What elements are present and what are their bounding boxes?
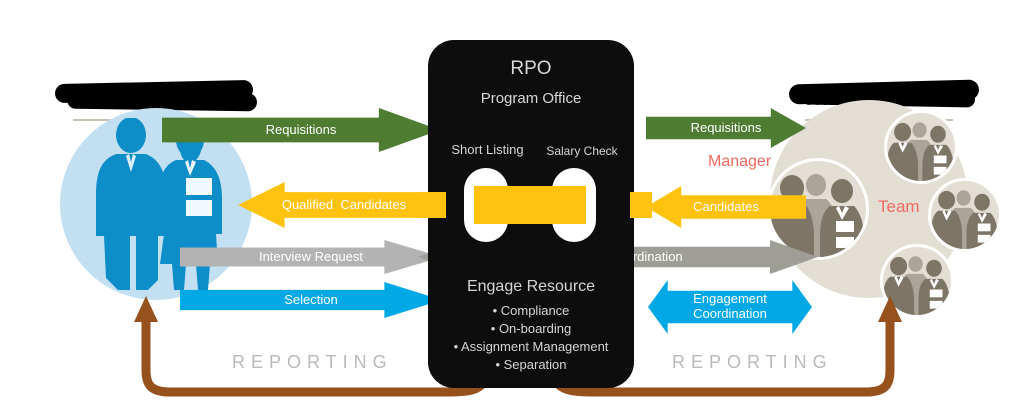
left-title-group	[45, 40, 270, 102]
team-people-icon	[931, 181, 999, 249]
yellow-connector-right	[630, 192, 652, 218]
engage-resource-list: • Compliance • On-boarding • Assignment …	[428, 302, 634, 374]
short-listing-label: Short Listing	[440, 142, 535, 157]
reporting-label-left: REPORTING	[232, 352, 393, 373]
arrow-label: Requisitions	[691, 121, 762, 136]
panel-title: RPO	[428, 58, 634, 80]
engage-resource-title: Engage Resource	[428, 278, 634, 296]
salary-check-label: Salary Check	[536, 144, 628, 158]
arrow-label: Candidates	[693, 200, 759, 215]
engage-item: • Compliance	[428, 302, 634, 320]
manager-label: Manager	[708, 153, 771, 171]
rpo-panel: RPO Program Office Short Listing Salary …	[428, 40, 634, 388]
team-bubble-2	[928, 178, 1002, 252]
yellow-connector-left	[420, 192, 446, 218]
engage-item: • Assignment Management	[428, 338, 634, 356]
arrow-qualified-candidates[interactable]: Qualified Candidates	[238, 182, 450, 228]
diagram-canvas: ch Digital	[0, 0, 1024, 416]
arrow-label: Selection	[284, 293, 337, 308]
arrow-requisitions-right[interactable]: Requisitions	[646, 108, 806, 148]
arrow-label: Interview Request	[259, 250, 363, 265]
engage-item: • Separation	[428, 356, 634, 374]
team-label: Team	[878, 197, 920, 217]
engage-item: • On-boarding	[428, 320, 634, 338]
process-connector-bar	[474, 186, 586, 224]
team-people-icon	[887, 113, 955, 181]
client-people-icon	[86, 118, 232, 298]
arrow-label: Engagement Coordination	[693, 292, 767, 322]
arrow-label: Qualified Candidates	[282, 198, 406, 213]
right-title-group: ch Digital	[775, 40, 1000, 102]
team-bubble-1	[884, 110, 958, 184]
panel-subtitle: Program Office	[428, 90, 634, 107]
arrow-label: Requisitions	[266, 123, 337, 138]
reporting-label-right: REPORTING	[672, 352, 833, 373]
